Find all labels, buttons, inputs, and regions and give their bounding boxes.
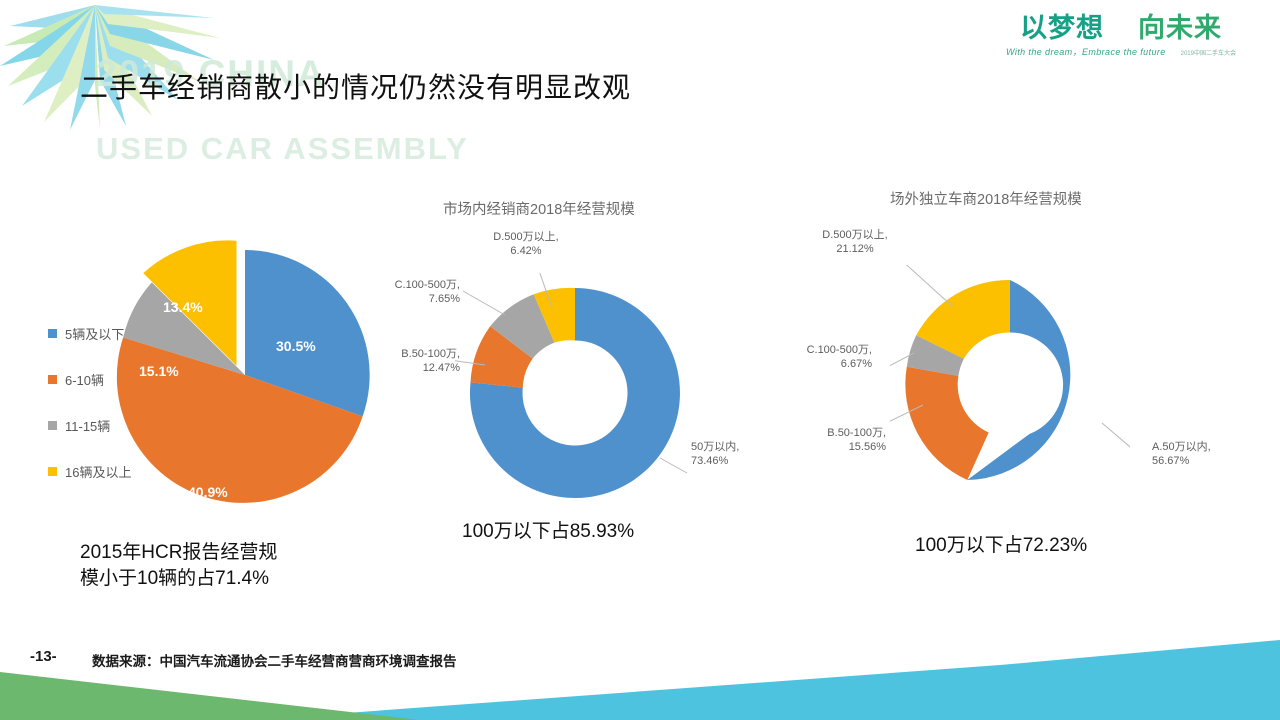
chart2-label-blue: 50万以内, 73.46%	[691, 440, 801, 468]
logo-small-mark: 2019中国二手车大会	[1181, 51, 1236, 57]
chart1-label-gray: 15.1%	[139, 363, 179, 379]
chart3-leader-yellow	[890, 265, 952, 306]
legend-label-2: 11-15辆	[65, 416, 110, 435]
legend-label-3: 16辆及以上	[65, 462, 131, 481]
logo-cn-left: 以梦想	[1020, 13, 1104, 43]
brand-logo: 以梦想 向未来 With the dream，Embrace the futur…	[996, 14, 1246, 76]
chart2-label-orange: B.50-100万, 12.47%	[364, 347, 460, 375]
slide-canvas: 2019 CHINA USED CAR ASSEMBLY 以梦想 向未来 Wit…	[0, 0, 1280, 720]
chart3-caption: 100万以下占72.23%	[915, 533, 1195, 559]
footer-band-green	[0, 672, 420, 720]
chart3-title: 场外独立车商2018年经营规模	[890, 188, 1082, 209]
chart1-caption: 2015年HCR报告经营规 模小于10辆的占71.4%	[80, 540, 350, 591]
legend-item-1[interactable]: 6-10辆	[48, 356, 131, 402]
legend-item-2[interactable]: 11-15辆	[48, 402, 131, 448]
chart1-label-yellow: 13.4%	[163, 299, 203, 315]
logo-cn-right: 向未来	[1138, 13, 1222, 43]
logo-tagline: With the dream，Embrace the future 2019中国…	[996, 45, 1246, 58]
source-note: 数据来源：中国汽车流通协会二手车经营商营商环境调查报告	[92, 650, 457, 670]
legend-swatch-gray	[48, 421, 57, 430]
page-title: 二手车经销商散小的情况仍然没有明显改观	[80, 66, 631, 106]
legend-swatch-blue	[48, 329, 57, 338]
chart3-label-orange: B.50-100万, 15.56%	[794, 426, 886, 454]
chart2-label-gray: C.100-500万, 7.65%	[370, 278, 460, 306]
chart2-leader-gray	[463, 291, 505, 315]
chart3-slice-orange	[905, 367, 988, 480]
chart3-donut	[890, 265, 1130, 505]
legend-swatch-yellow	[48, 467, 57, 476]
chart3-label-yellow: D.500万以上, 21.12%	[795, 228, 915, 256]
chart3-leader-blue	[1102, 423, 1130, 457]
watermark-line-2: USED CAR ASSEMBLY	[96, 133, 469, 166]
logo-chinese-text: 以梦想 向未来	[996, 14, 1246, 42]
chart3-label-blue: A.50万以内, 56.67%	[1152, 440, 1262, 468]
legend-item-0[interactable]: 5辆及以下	[48, 310, 131, 356]
chart1-label-blue: 30.5%	[276, 338, 316, 354]
chart2-leader-blue	[660, 458, 687, 473]
logo-tagline-text: With the dream，Embrace the future	[1006, 47, 1166, 57]
chart2-title: 市场内经销商2018年经营规模	[443, 198, 635, 219]
chart1-label-orange: 40.9%	[188, 484, 228, 500]
page-number: -13-	[30, 648, 57, 665]
chart2-label-yellow: D.500万以上, 6.42%	[466, 230, 586, 258]
chart2-caption: 100万以下占85.93%	[462, 519, 742, 545]
legend-item-3[interactable]: 16辆及以上	[48, 448, 131, 494]
legend-label-0: 5辆及以下	[65, 324, 124, 343]
deck-watermark: 2019 CHINA USED CAR ASSEMBLY	[96, 16, 469, 204]
chart1-legend: 5辆及以下 6-10辆 11-15辆 16辆及以上	[48, 310, 131, 494]
decorative-burst-graphic	[0, 0, 420, 130]
chart3-label-gray: C.100-500万, 6.67%	[780, 343, 872, 371]
legend-label-1: 6-10辆	[65, 370, 104, 389]
legend-swatch-orange	[48, 375, 57, 384]
chart2-donut	[455, 273, 695, 513]
